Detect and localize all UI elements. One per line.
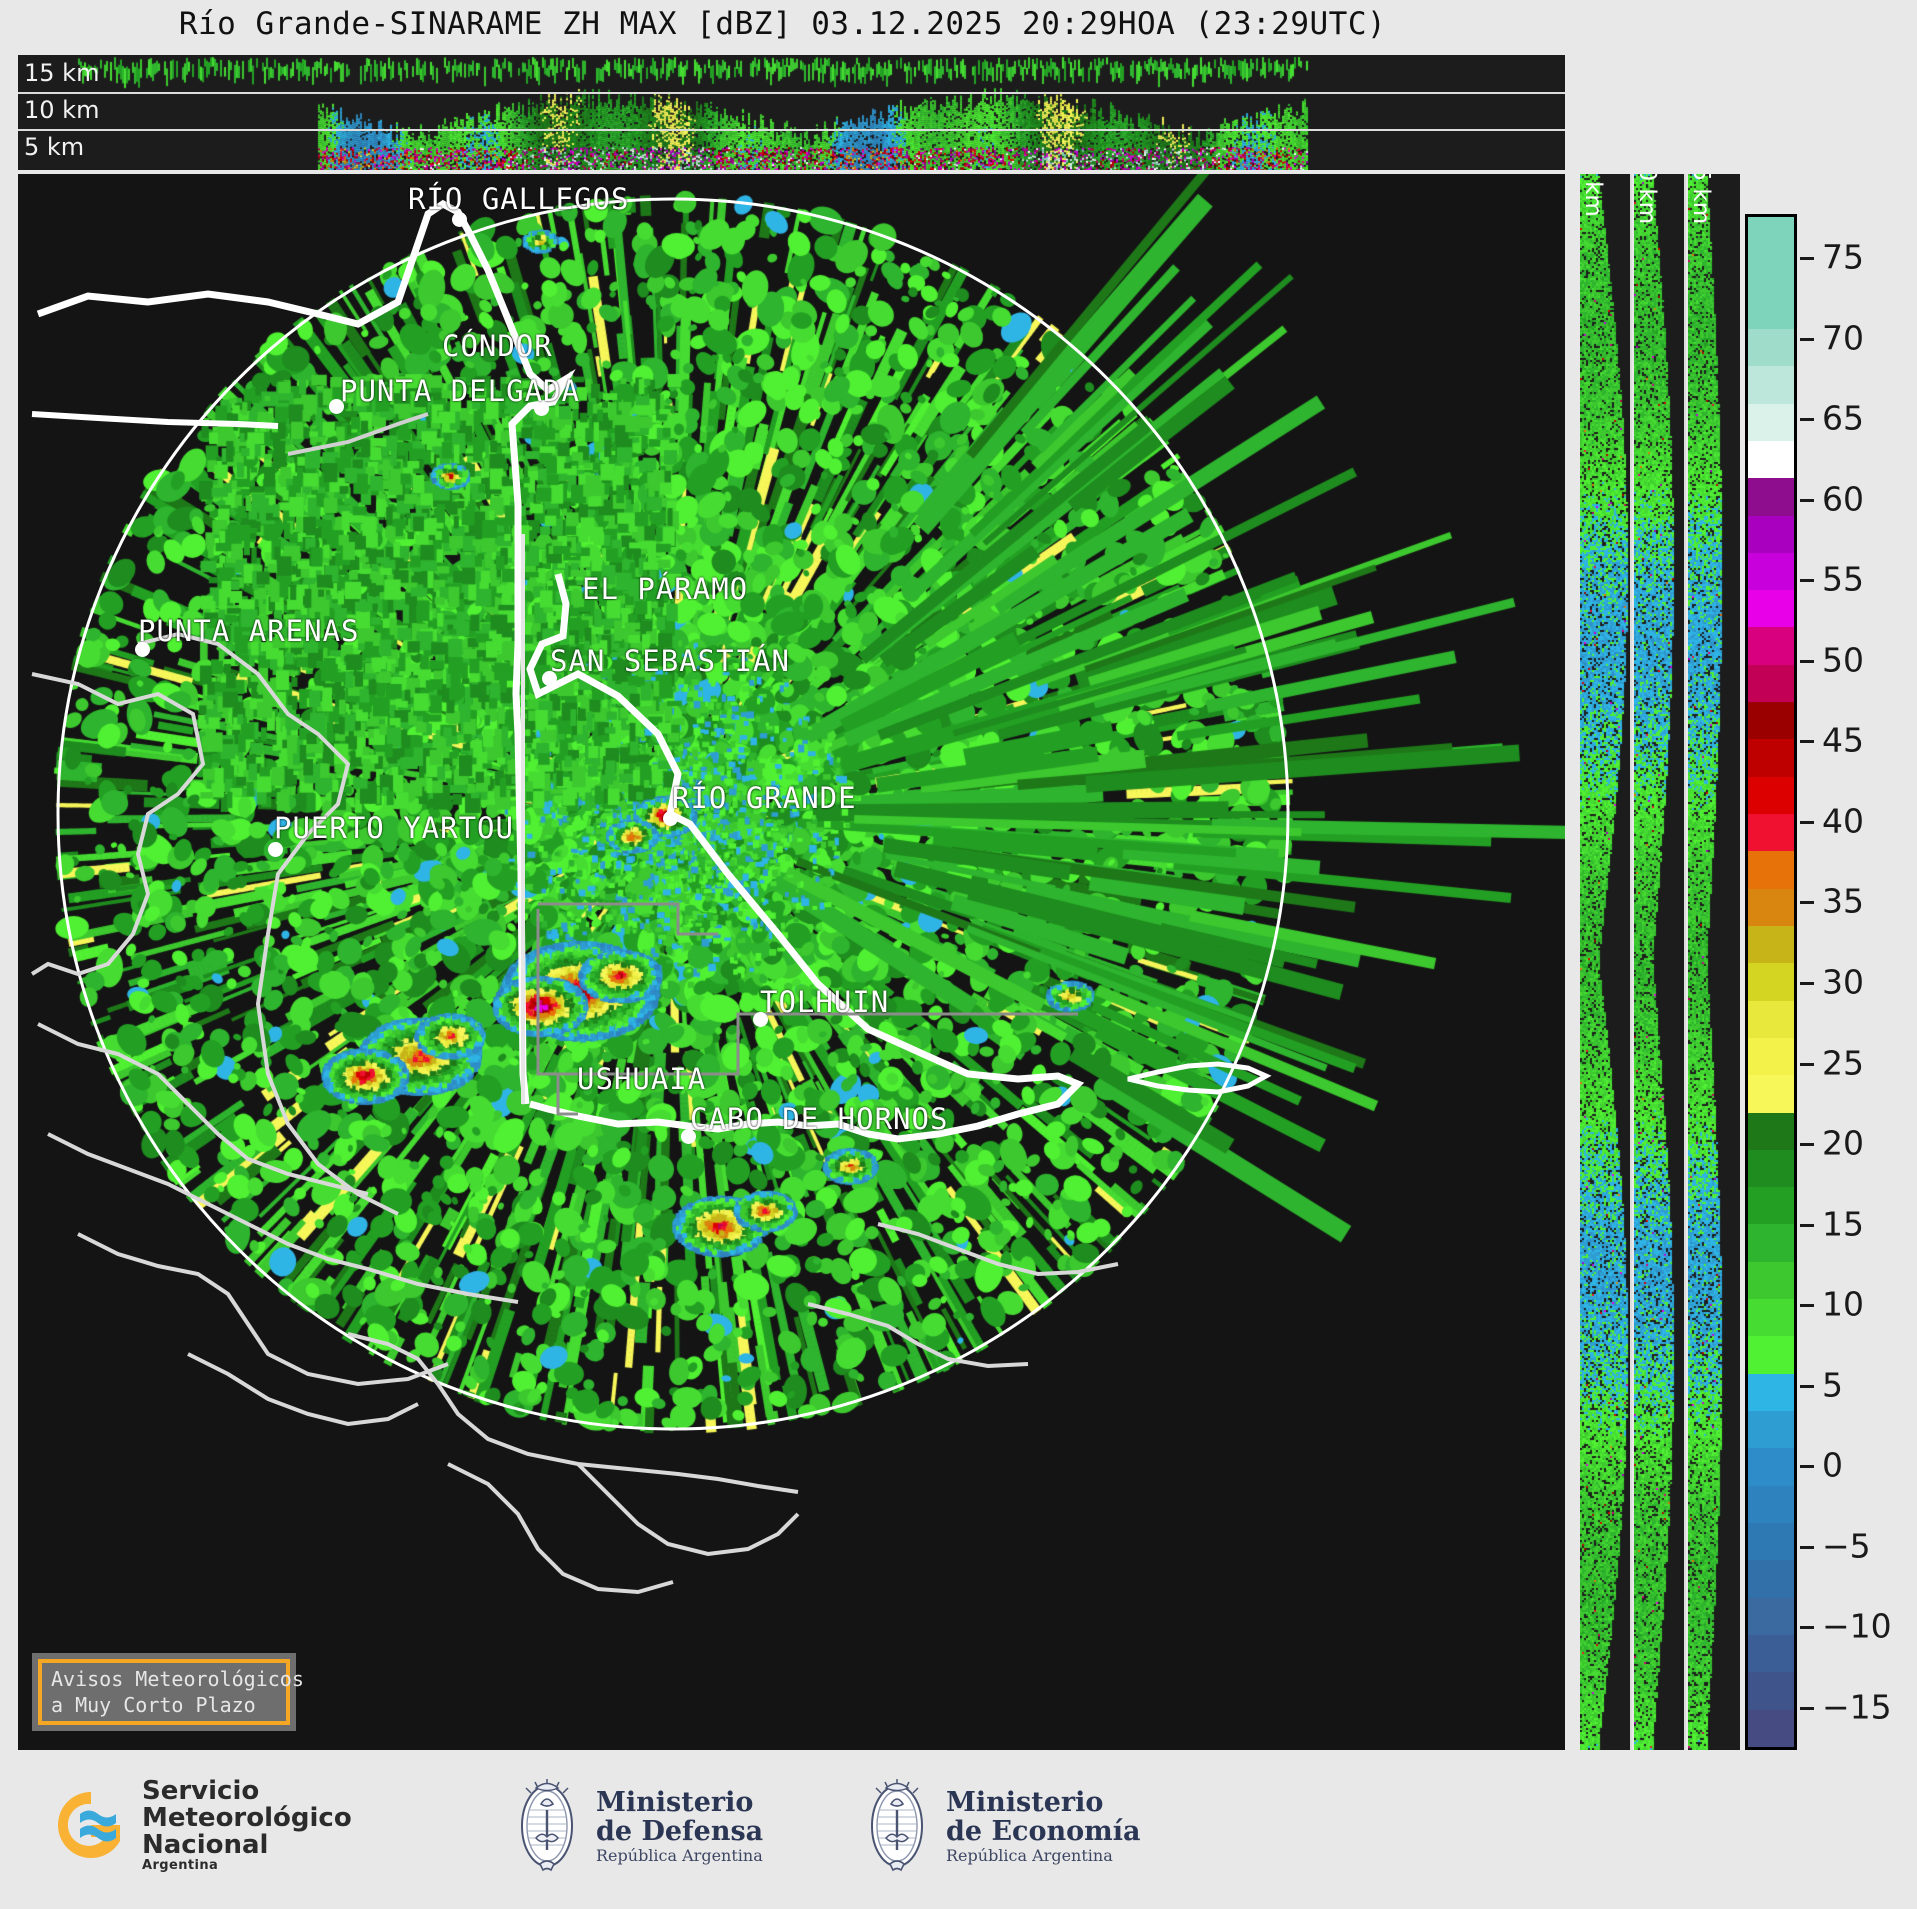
colorbar-segment (1748, 1374, 1794, 1411)
colorbar-segment (1748, 292, 1794, 329)
geo-path (1128, 1064, 1266, 1092)
cross-section-right-5km: 5 km (1580, 174, 1632, 1750)
place-marker-dot (329, 399, 344, 414)
smn-logo-text: Servicio Meteorológico Nacional Argentin… (142, 1778, 352, 1873)
colorbar-segment (1748, 777, 1794, 814)
height-label-5km: 5 km (24, 135, 84, 159)
height-label-10km: 10 km (24, 98, 99, 122)
colorbar-tick-label: 55 (1822, 560, 1864, 599)
colorbar-tick (1800, 1224, 1814, 1227)
colorbar-segment (1748, 739, 1794, 776)
place-label-punta-arenas: PUNTA ARENAS (138, 614, 360, 648)
colorbar-segment (1748, 441, 1794, 478)
smn-logo-icon (50, 1784, 132, 1866)
colorbar-segment (1748, 627, 1794, 664)
place-label-san-sebasti-n: SAN SEBASTIÁN (550, 644, 790, 678)
geo-path (48, 1134, 518, 1302)
geo-path (808, 1304, 1028, 1366)
place-label-cabo-de-hornos: CABO DE HORNOS (690, 1102, 948, 1136)
colorbar-segment (1748, 1038, 1794, 1075)
geo-path (538, 904, 718, 934)
colorbar-tick-label: 65 (1822, 399, 1864, 438)
colorbar-tick-label: 10 (1822, 1285, 1864, 1324)
colorbar-tick (1800, 1304, 1814, 1307)
colorbar-tick-label: 60 (1822, 479, 1864, 518)
defensa-line-2: de Defensa (596, 1817, 763, 1846)
place-marker-dot (542, 671, 557, 686)
colorbar-tick (1800, 901, 1814, 904)
colorbar-segment (1748, 1448, 1794, 1485)
colorbar-tick (1800, 821, 1814, 824)
colorbar-segment (1748, 1001, 1794, 1038)
colorbar-segment (1748, 1075, 1794, 1112)
colorbar-segment (1748, 1299, 1794, 1336)
warning-box-inner: Avisos Meteorológicos a Muy Corto Plazo (38, 1659, 290, 1725)
vsec-label-10km: 10 km (1634, 174, 1660, 224)
place-marker-dot (268, 842, 283, 857)
geo-path (348, 1334, 798, 1492)
geo-path (448, 1464, 673, 1592)
colorbar-tick (1800, 499, 1814, 502)
colorbar-segment (1748, 1336, 1794, 1373)
place-label-punta-delgada: PUNTA DELGADA (340, 374, 580, 408)
colorbar-segment (1748, 1113, 1794, 1150)
colorbar-segment (1748, 665, 1794, 702)
colorbar-segment (1748, 516, 1794, 553)
colorbar-tick-label: −5 (1822, 1526, 1871, 1565)
colorbar-tick-label: 40 (1822, 801, 1864, 840)
colorbar-tick-label: 35 (1822, 882, 1864, 921)
colorbar-segment (1748, 1672, 1794, 1709)
geo-path (32, 414, 278, 426)
geo-path (38, 1024, 368, 1194)
colorbar-tick (1800, 579, 1814, 582)
colorbar-tick-label: −10 (1822, 1607, 1892, 1646)
page-title: Río Grande-SINARAME ZH MAX [dBZ] 03.12.2… (0, 6, 1565, 42)
logo-ministerio-economia: Ministerio de Economía República Argenti… (860, 1774, 1140, 1878)
geo-path (878, 1224, 1118, 1274)
colorbar-segment (1748, 851, 1794, 888)
colorbar-tick-label: 75 (1822, 238, 1864, 277)
colorbar-segment (1748, 329, 1794, 366)
place-label-c-ndor: CÓNDOR (442, 329, 553, 363)
logo-smn: Servicio Meteorológico Nacional Argentin… (50, 1778, 352, 1873)
economia-line-3: República Argentina (946, 1847, 1140, 1864)
cross-section-right-10km: 10 km (1634, 174, 1686, 1750)
colorbar-segment (1748, 814, 1794, 851)
height-line-15km (18, 92, 1565, 94)
economia-line-2: de Economía (946, 1817, 1140, 1846)
colorbar-segment (1748, 1262, 1794, 1299)
colorbar-segment (1748, 1224, 1794, 1261)
economia-line-1: Ministerio (946, 1788, 1140, 1817)
colorbar-segment (1748, 1523, 1794, 1560)
geo-path (558, 1074, 578, 1114)
colorbar-segment (1748, 1635, 1794, 1672)
colorbar-tick (1800, 1465, 1814, 1468)
geo-path (138, 634, 398, 1214)
colorbar-tick (1800, 1626, 1814, 1629)
colorbar-segment (1748, 217, 1794, 254)
colorbar-tick (1800, 982, 1814, 985)
colorbar-tick (1800, 1385, 1814, 1388)
colorbar-tick (1800, 257, 1814, 260)
colorbar-tick-label: −15 (1822, 1687, 1892, 1726)
colorbar-segment (1748, 963, 1794, 1000)
vsec-divider-2 (1684, 174, 1686, 1750)
colorbar-segment (1748, 254, 1794, 291)
place-marker-dot (452, 212, 467, 227)
place-marker-dot (681, 1129, 696, 1144)
defensa-line-3: República Argentina (596, 1847, 763, 1864)
colorbar-segment (1748, 590, 1794, 627)
colorbar-segment (1748, 478, 1794, 515)
geo-path (578, 1464, 798, 1554)
colorbar-segment (1748, 1710, 1794, 1747)
colorbar-tick-label: 45 (1822, 721, 1864, 760)
geo-path (288, 414, 428, 454)
colorbar-tick (1800, 1546, 1814, 1549)
colorbar-segment (1748, 366, 1794, 403)
colorbar-segment (1748, 1486, 1794, 1523)
colorbar-tick-label: 70 (1822, 318, 1864, 357)
footer: Servicio Meteorológico Nacional Argentin… (0, 1760, 1917, 1909)
cross-section-top-panel: 15 km 10 km 5 km (18, 55, 1565, 170)
vsec-label-15km: 15 km (1688, 174, 1714, 224)
colorbar (1745, 214, 1797, 1750)
place-label-puerto-yartou: PUERTO YARTOU (274, 811, 514, 845)
warning-line-2: a Muy Corto Plazo (51, 1692, 286, 1718)
radar-map-panel[interactable]: RÍO GALLEGOSCÓNDORPUNTA DELGADAEL PÁRAMO… (18, 174, 1565, 1750)
place-label-tolhuin: TOLHUIN (760, 985, 889, 1019)
colorbar-segment (1748, 1187, 1794, 1224)
colorbar-segment (1748, 1560, 1794, 1597)
smn-line-1: Servicio (142, 1778, 352, 1805)
colorbar-segment (1748, 404, 1794, 441)
place-marker-dot (135, 642, 150, 657)
colorbar-segment (1748, 889, 1794, 926)
argentina-coat-of-arms-icon (510, 1774, 584, 1878)
colorbar-tick (1800, 1707, 1814, 1710)
colorbar-tick-label: 15 (1822, 1204, 1864, 1243)
colorbar-segment (1748, 1598, 1794, 1635)
colorbar-tick (1800, 660, 1814, 663)
colorbar-tick-label: 20 (1822, 1124, 1864, 1163)
colorbar-tick (1800, 338, 1814, 341)
colorbar-segment (1748, 553, 1794, 590)
colorbar-tick (1800, 418, 1814, 421)
smn-line-3: Nacional (142, 1832, 352, 1859)
colorbar-tick (1800, 740, 1814, 743)
colorbar-tick-label: 50 (1822, 640, 1864, 679)
smn-line-4: Argentina (142, 1859, 352, 1873)
height-line-10km (18, 129, 1565, 131)
colorbar-tick-label: 0 (1822, 1446, 1843, 1485)
place-marker-dot (753, 1012, 768, 1027)
place-label-r-o-gallegos: RÍO GALLEGOS (408, 182, 630, 216)
height-label-15km: 15 km (24, 61, 99, 85)
argentina-coat-of-arms-icon-2 (860, 1774, 934, 1878)
economia-logo-text: Ministerio de Economía República Argenti… (946, 1788, 1140, 1864)
colorbar-tick-label: 25 (1822, 1043, 1864, 1082)
colorbar-tick (1800, 1143, 1814, 1146)
warning-line-1: Avisos Meteorológicos (51, 1666, 286, 1692)
colorbar-segment (1748, 1411, 1794, 1448)
colorbar-tick-label: 5 (1822, 1365, 1843, 1404)
colorbar-segment (1748, 926, 1794, 963)
place-marker-dot (663, 811, 678, 826)
vsec-label-5km: 5 km (1580, 174, 1606, 217)
cross-section-right-15km: 15 km (1688, 174, 1740, 1750)
defensa-line-1: Ministerio (596, 1788, 763, 1817)
geo-path (188, 1354, 418, 1424)
place-label-r-o-grande: RÍO GRANDE (672, 781, 857, 815)
vsec-divider-1 (1630, 174, 1632, 1750)
geography-overlay (18, 174, 1565, 1750)
weather-warning-box[interactable]: Avisos Meteorológicos a Muy Corto Plazo (32, 1653, 296, 1731)
colorbar-segment (1748, 1150, 1794, 1187)
place-label-ushuaia: USHUAIA (577, 1062, 706, 1096)
place-label-el-p-ramo: EL PÁRAMO (582, 572, 748, 606)
smn-line-2: Meteorológico (142, 1805, 352, 1832)
defensa-logo-text: Ministerio de Defensa República Argentin… (596, 1788, 763, 1864)
colorbar-segment (1748, 702, 1794, 739)
colorbar-tick-label: 30 (1822, 963, 1864, 1002)
logo-ministerio-defensa: Ministerio de Defensa República Argentin… (510, 1774, 763, 1878)
colorbar-tick (1800, 1063, 1814, 1066)
